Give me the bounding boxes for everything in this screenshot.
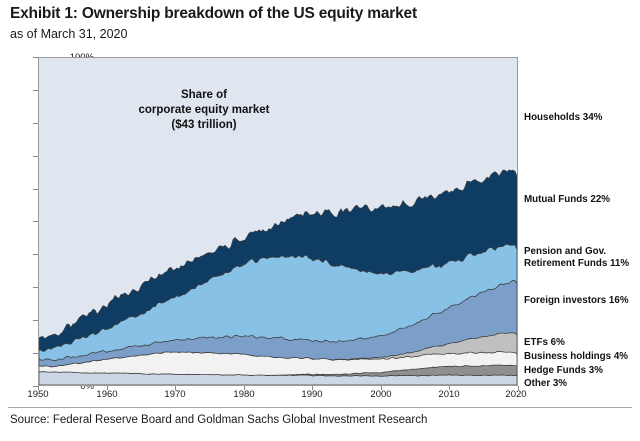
series-label-business-holdings: Business holdings 4% <box>524 351 628 363</box>
annotation-line-3: ($43 trillion) <box>104 118 304 133</box>
series-label-hedge-funds: Hedge Funds 3% <box>524 365 603 377</box>
x-axis-tick-1980: 1980 <box>233 389 254 400</box>
series-label-etfs: ETFs 6% <box>524 337 565 349</box>
annotation-line-1: Share of <box>104 88 304 103</box>
x-axis-tick-2010: 2010 <box>438 389 459 400</box>
series-label-pension-gov-1: Pension and Gov. <box>524 246 606 258</box>
x-axis-tick-2020: 2020 <box>505 389 526 400</box>
series-label-mutual-funds: Mutual Funds 22% <box>524 194 610 206</box>
series-label-foreign-investors: Foreign investors 16% <box>524 295 629 307</box>
x-axis-tick-1950: 1950 <box>27 389 48 400</box>
series-label-other: Other 3% <box>524 378 567 390</box>
page-title: Exhibit 1: Ownership breakdown of the US… <box>10 5 417 23</box>
footer-divider <box>8 407 632 408</box>
source-note: Source: Federal Reserve Board and Goldma… <box>10 414 427 426</box>
x-axis-tick-1970: 1970 <box>164 389 185 400</box>
x-axis-tick-1990: 1990 <box>301 389 322 400</box>
chart-annotation: Share of corporate equity market ($43 tr… <box>104 88 304 134</box>
annotation-line-2: corporate equity market <box>104 103 304 118</box>
series-label-pension-gov-2: Retirement Funds 11% <box>524 258 629 270</box>
x-axis-tick-2000: 2000 <box>370 389 391 400</box>
series-label-households: Households 34% <box>524 112 602 124</box>
exhibit-chart-panel: Exhibit 1: Ownership breakdown of the US… <box>0 0 640 441</box>
page-subtitle: as of March 31, 2020 <box>10 27 127 41</box>
x-axis-tick-1960: 1960 <box>96 389 117 400</box>
